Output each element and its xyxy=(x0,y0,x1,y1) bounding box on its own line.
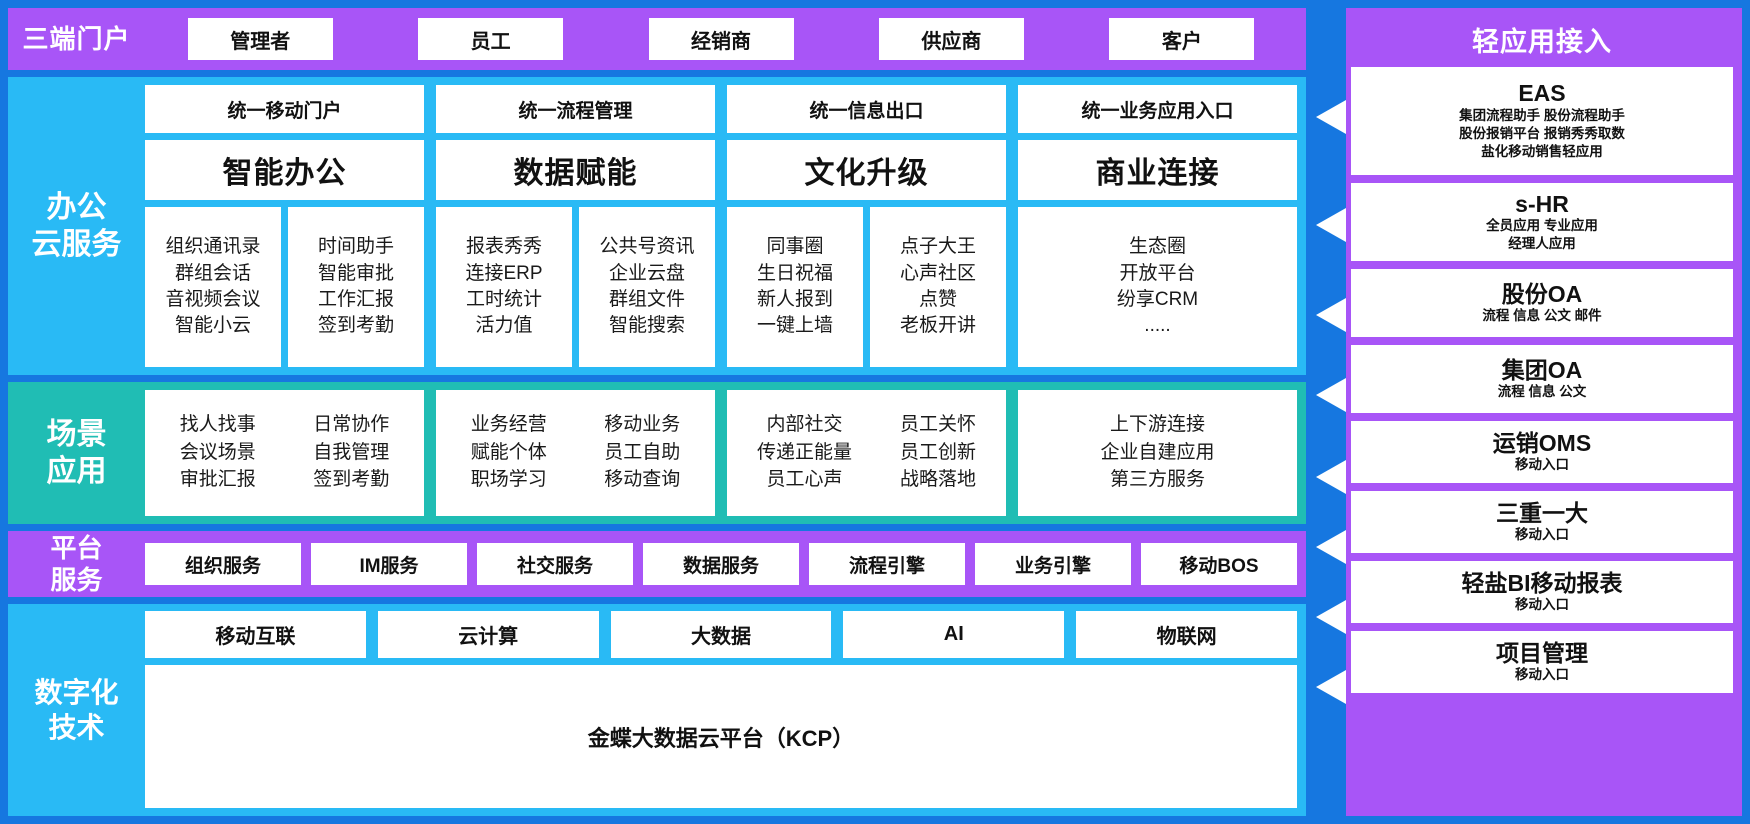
portal-slot: 供应商 xyxy=(836,18,1066,60)
scene-label: 企业自建应用 xyxy=(1100,441,1214,466)
scene-label: 内部社交 xyxy=(766,413,842,438)
feature-label: 企业云盘 xyxy=(609,262,685,286)
scene-column: 移动业务 员工自助 移动查询 xyxy=(604,413,680,493)
scene-group-business[interactable]: 业务经营 赋能个体 职场学习 移动业务 员工自助 移动查询 xyxy=(436,390,715,516)
scene-column: 上下游连接 企业自建应用 第三方服务 xyxy=(1100,413,1214,493)
platform-card-social-service[interactable]: 社交服务 xyxy=(477,543,633,585)
light-app-panel-title: 轻应用接入 xyxy=(1351,14,1733,67)
layer-digital-tech-label-line1: 数字化 xyxy=(34,675,118,710)
portal-slot: 客户 xyxy=(1067,18,1297,60)
light-app-sub: 移动入口 xyxy=(1515,526,1569,544)
scene-label: 会议场景 xyxy=(180,441,256,466)
scene-group-office[interactable]: 找人找事 会议场景 审批汇报 日常协作 自我管理 签到考勤 xyxy=(145,390,424,516)
light-app-card-shr[interactable]: s-HR 全员应用 专业应用 经理人应用 xyxy=(1351,183,1733,261)
light-app-name: 运销OMS xyxy=(1493,430,1591,456)
office-pillar-smart-office[interactable]: 智能办公 xyxy=(145,140,424,200)
scene-label: 员工创新 xyxy=(900,441,976,466)
left-layer-stack: 三端门户 管理者 员工 经销商 供应商 客户 xyxy=(8,8,1306,816)
light-app-name: 集团OA xyxy=(1502,357,1583,383)
feature-label: 开放平台 xyxy=(1119,262,1195,286)
layer-office-cloud-body: 统一移动门户 统一流程管理 统一信息出口 统一业务应用入口 智能办公 数据赋能 … xyxy=(145,77,1306,375)
arrow-left-icon xyxy=(1316,208,1346,242)
tech-card-row: 移动互联 云计算 大数据 AI 物联网 xyxy=(145,611,1297,658)
office-feature-group-data-empower: 报表秀秀 连接ERP 工时统计 活力值 公共号资讯 企业云盘 群组文件 智能搜索 xyxy=(436,207,715,367)
tech-card-cloud-computing[interactable]: 云计算 xyxy=(378,611,599,658)
feature-label: 群组会话 xyxy=(175,262,251,286)
layer-platform-label-line2: 服务 xyxy=(50,564,102,597)
office-feature-card[interactable]: 生态圈 开放平台 纷享CRM ..... xyxy=(1018,207,1297,367)
feature-label: 智能搜索 xyxy=(609,314,685,338)
scene-group-connect[interactable]: 上下游连接 企业自建应用 第三方服务 xyxy=(1018,390,1297,516)
layer-portal-items: 管理者 员工 经销商 供应商 客户 xyxy=(145,8,1306,70)
portal-card-supplier[interactable]: 供应商 xyxy=(879,18,1024,60)
light-app-sub: 股份报销平台 报销秀秀取数 xyxy=(1459,125,1625,143)
portal-slot: 员工 xyxy=(375,18,605,60)
feature-label: 连接ERP xyxy=(465,262,542,286)
scene-column: 内部社交 传递正能量 员工心声 xyxy=(757,413,852,493)
layer-platform-items: 组织服务 IM服务 社交服务 数据服务 流程引擎 业务引擎 移动BOS xyxy=(145,531,1306,597)
layer-office-cloud-label-line2: 云服务 xyxy=(32,226,122,264)
layer-digital-tech-label: 数字化 技术 xyxy=(8,604,145,816)
feature-label: 群组文件 xyxy=(609,288,685,312)
platform-card-im-service[interactable]: IM服务 xyxy=(311,543,467,585)
light-app-name: 项目管理 xyxy=(1496,640,1588,666)
office-feature-card[interactable]: 组织通讯录 群组会话 音视频会议 智能小云 xyxy=(145,207,281,367)
office-feature-card[interactable]: 点子大王 心声社区 点赞 老板开讲 xyxy=(870,207,1006,367)
scene-label: 找人找事 xyxy=(180,413,256,438)
office-pillar-row: 智能办公 数据赋能 文化升级 商业连接 xyxy=(145,140,1297,200)
light-app-sub: 移动入口 xyxy=(1515,666,1569,684)
feature-label: 点子大王 xyxy=(900,235,976,259)
light-app-name: s-HR xyxy=(1515,191,1569,217)
feature-label: 生态圈 xyxy=(1129,235,1186,259)
office-feature-row: 组织通讯录 群组会话 音视频会议 智能小云 时间助手 智能审批 工作汇报 签到考… xyxy=(145,207,1297,367)
scene-label: 员工心声 xyxy=(766,468,842,493)
portal-card-dealer[interactable]: 经销商 xyxy=(649,18,794,60)
feature-label: 公共号资讯 xyxy=(599,235,694,259)
scene-column: 业务经营 赋能个体 职场学习 xyxy=(471,413,547,493)
portal-card-employee[interactable]: 员工 xyxy=(418,18,563,60)
feature-label: 时间助手 xyxy=(318,235,394,259)
scene-group-culture[interactable]: 内部社交 传递正能量 员工心声 员工关怀 员工创新 战略落地 xyxy=(727,390,1006,516)
layer-platform-services-label: 平台 服务 xyxy=(8,531,145,597)
light-app-sub: 集团流程助手 股份流程助手 xyxy=(1459,107,1625,125)
office-feature-card[interactable]: 同事圈 生日祝福 新人报到 一键上墙 xyxy=(727,207,863,367)
light-app-card-bi-report[interactable]: 轻盐BI移动报表 移动入口 xyxy=(1351,561,1733,623)
light-app-sub: 移动入口 xyxy=(1515,596,1569,614)
office-feature-card[interactable]: 报表秀秀 连接ERP 工时统计 活力值 xyxy=(436,207,572,367)
scene-label: 第三方服务 xyxy=(1110,468,1205,493)
tech-card-iot[interactable]: 物联网 xyxy=(1076,611,1297,658)
portal-slot: 管理者 xyxy=(145,18,375,60)
light-app-card-oms[interactable]: 运销OMS 移动入口 xyxy=(1351,421,1733,483)
tech-footer-kcp[interactable]: 金蝶大数据云平台（KCP） xyxy=(145,665,1297,808)
layer-portal-label: 三端门户 xyxy=(8,8,145,70)
arrow-left-icon xyxy=(1316,378,1346,412)
light-app-panel: 轻应用接入 EAS 集团流程助手 股份流程助手 股份报销平台 报销秀秀取数 盐化… xyxy=(1346,8,1742,816)
light-app-card-shares-oa[interactable]: 股份OA 流程 信息 公文 邮件 xyxy=(1351,269,1733,337)
office-pillar-data-empower[interactable]: 数据赋能 xyxy=(436,140,715,200)
arrow-left-icon xyxy=(1316,100,1346,134)
tech-card-ai[interactable]: AI xyxy=(843,611,1064,658)
scene-label: 审批汇报 xyxy=(180,468,256,493)
light-app-list: EAS 集团流程助手 股份流程助手 股份报销平台 报销秀秀取数 盐化移动销售轻应… xyxy=(1351,67,1733,808)
feature-label: 纷享CRM xyxy=(1117,288,1198,312)
scene-label: 业务经营 xyxy=(471,413,547,438)
layer-scene-apps-label-line2: 应用 xyxy=(47,453,107,491)
feature-label: 工时统计 xyxy=(466,288,542,312)
feature-label: ..... xyxy=(1144,314,1170,338)
arrow-left-icon xyxy=(1316,670,1346,704)
arrow-left-icon xyxy=(1316,298,1346,332)
feature-label: 签到考勤 xyxy=(318,314,394,338)
feature-label: 老板开讲 xyxy=(900,314,976,338)
feature-label: 同事圈 xyxy=(766,235,823,259)
layer-office-cloud-label: 办公 云服务 xyxy=(8,77,145,375)
arrow-gutter xyxy=(1316,8,1346,816)
scene-label: 上下游连接 xyxy=(1110,413,1205,438)
platform-card-mobile-bos[interactable]: 移动BOS xyxy=(1141,543,1297,585)
tech-card-mobile-internet[interactable]: 移动互联 xyxy=(145,611,366,658)
office-entry-mobile-portal[interactable]: 统一移动门户 xyxy=(145,85,424,133)
feature-label: 工作汇报 xyxy=(318,288,394,312)
feature-label: 新人报到 xyxy=(757,288,833,312)
scene-label: 赋能个体 xyxy=(471,441,547,466)
tech-card-big-data[interactable]: 大数据 xyxy=(611,611,832,658)
layer-portal-label-text: 三端门户 xyxy=(22,23,130,56)
scene-label: 传递正能量 xyxy=(757,441,852,466)
light-app-card-project-mgmt[interactable]: 项目管理 移动入口 xyxy=(1351,631,1733,693)
office-feature-card[interactable]: 时间助手 智能审批 工作汇报 签到考勤 xyxy=(288,207,424,367)
layer-scene-apps-label: 场景 应用 xyxy=(8,382,145,524)
layer-digital-tech-body: 移动互联 云计算 大数据 AI 物联网 金蝶大数据云平台（KCP） xyxy=(145,604,1306,816)
light-app-name: 三重一大 xyxy=(1496,500,1588,526)
scene-label: 日常协作 xyxy=(313,413,389,438)
scene-label: 职场学习 xyxy=(471,468,547,493)
scene-label: 移动查询 xyxy=(604,468,680,493)
office-entry-process-mgmt[interactable]: 统一流程管理 xyxy=(436,85,715,133)
feature-label: 活力值 xyxy=(475,314,532,338)
office-feature-group-business-connect: 生态圈 开放平台 纷享CRM ..... xyxy=(1018,207,1297,367)
office-entry-business-app[interactable]: 统一业务应用入口 xyxy=(1018,85,1297,133)
platform-card-process-engine[interactable]: 流程引擎 xyxy=(809,543,965,585)
light-app-card-sanzhongyida[interactable]: 三重一大 移动入口 xyxy=(1351,491,1733,553)
portal-card-manager[interactable]: 管理者 xyxy=(188,18,333,60)
light-app-sub: 经理人应用 xyxy=(1508,235,1576,253)
arrow-left-icon xyxy=(1316,600,1346,634)
office-feature-group-culture-upgrade: 同事圈 生日祝福 新人报到 一键上墙 点子大王 心声社区 点赞 老板开讲 xyxy=(727,207,1006,367)
layer-digital-tech: 数字化 技术 移动互联 云计算 大数据 AI 物联网 金蝶大数据云平台（KCP） xyxy=(8,604,1306,816)
light-app-sub: 全员应用 专业应用 xyxy=(1486,217,1598,235)
portal-slot: 经销商 xyxy=(606,18,836,60)
platform-card-org-service[interactable]: 组织服务 xyxy=(145,543,301,585)
layer-scene-apps-body: 找人找事 会议场景 审批汇报 日常协作 自我管理 签到考勤 业务经营 xyxy=(145,382,1306,524)
light-app-sub: 流程 信息 公文 xyxy=(1498,383,1587,401)
feature-label: 生日祝福 xyxy=(757,262,833,286)
layer-portal: 三端门户 管理者 员工 经销商 供应商 客户 xyxy=(8,8,1306,70)
feature-label: 智能小云 xyxy=(175,314,251,338)
scene-column: 找人找事 会议场景 审批汇报 xyxy=(180,413,256,493)
scene-label: 自我管理 xyxy=(313,441,389,466)
office-entry-info-outlet[interactable]: 统一信息出口 xyxy=(727,85,1006,133)
office-feature-group-smart-office: 组织通讯录 群组会话 音视频会议 智能小云 时间助手 智能审批 工作汇报 签到考… xyxy=(145,207,424,367)
layer-platform-services: 平台 服务 组织服务 IM服务 社交服务 数据服务 流程引擎 业务引擎 移动BO… xyxy=(8,531,1306,597)
scene-column: 员工关怀 员工创新 战略落地 xyxy=(900,413,976,493)
light-app-card-group-oa[interactable]: 集团OA 流程 信息 公文 xyxy=(1351,345,1733,413)
light-app-sub: 盐化移动销售轻应用 xyxy=(1481,143,1603,161)
architecture-diagram: 三端门户 管理者 员工 经销商 供应商 客户 xyxy=(0,0,1750,824)
layer-scene-apps: 场景 应用 找人找事 会议场景 审批汇报 日常协作 自我管理 签到考 xyxy=(8,382,1306,524)
layer-scene-apps-label-line1: 场景 xyxy=(47,416,107,454)
light-app-name: EAS xyxy=(1518,80,1565,106)
feature-label: 点赞 xyxy=(919,288,957,312)
light-app-name: 股份OA xyxy=(1502,281,1583,307)
arrow-left-icon xyxy=(1316,530,1346,564)
feature-label: 心声社区 xyxy=(900,262,976,286)
office-feature-card[interactable]: 公共号资讯 企业云盘 群组文件 智能搜索 xyxy=(579,207,715,367)
light-app-name: 轻盐BI移动报表 xyxy=(1462,570,1623,596)
layer-office-cloud-label-line1: 办公 xyxy=(47,189,107,227)
light-app-access-column: 轻应用接入 EAS 集团流程助手 股份流程助手 股份报销平台 报销秀秀取数 盐化… xyxy=(1316,8,1742,816)
scene-label: 员工自助 xyxy=(604,441,680,466)
scene-label: 员工关怀 xyxy=(900,413,976,438)
layer-office-cloud: 办公 云服务 统一移动门户 统一流程管理 统一信息出口 统一业务应用入口 智能办… xyxy=(8,77,1306,375)
feature-label: 智能审批 xyxy=(318,262,394,286)
portal-card-customer[interactable]: 客户 xyxy=(1109,18,1254,60)
layer-digital-tech-label-line2: 技术 xyxy=(48,710,104,745)
light-app-card-eas[interactable]: EAS 集团流程助手 股份流程助手 股份报销平台 报销秀秀取数 盐化移动销售轻应… xyxy=(1351,67,1733,175)
light-app-sub: 移动入口 xyxy=(1515,456,1569,474)
office-pillar-business-connect[interactable]: 商业连接 xyxy=(1018,140,1297,200)
light-app-sub: 流程 信息 公文 邮件 xyxy=(1482,307,1601,325)
platform-card-data-service[interactable]: 数据服务 xyxy=(643,543,799,585)
feature-label: 一键上墙 xyxy=(757,314,833,338)
office-entry-row: 统一移动门户 统一流程管理 统一信息出口 统一业务应用入口 xyxy=(145,85,1297,133)
arrow-left-icon xyxy=(1316,460,1346,494)
feature-label: 音视频会议 xyxy=(165,288,260,312)
scene-label: 移动业务 xyxy=(604,413,680,438)
scene-label: 签到考勤 xyxy=(313,468,389,493)
feature-label: 组织通讯录 xyxy=(165,235,260,259)
feature-label: 报表秀秀 xyxy=(466,235,542,259)
scene-group-row: 找人找事 会议场景 审批汇报 日常协作 自我管理 签到考勤 业务经营 xyxy=(145,390,1297,516)
scene-column: 日常协作 自我管理 签到考勤 xyxy=(313,413,389,493)
office-pillar-culture-upgrade[interactable]: 文化升级 xyxy=(727,140,1006,200)
layer-platform-label-line1: 平台 xyxy=(50,532,102,565)
platform-card-business-engine[interactable]: 业务引擎 xyxy=(975,543,1131,585)
scene-label: 战略落地 xyxy=(900,468,976,493)
